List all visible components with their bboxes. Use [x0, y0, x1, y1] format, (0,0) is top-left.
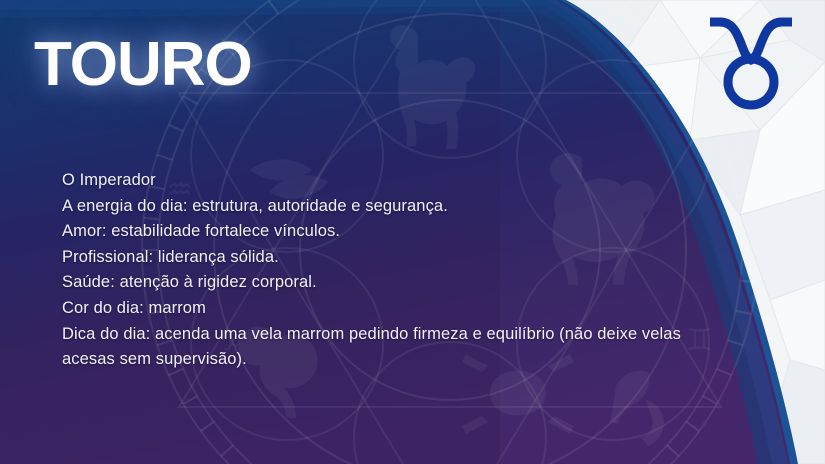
text-line-career: Profissional: liderança sólida.	[62, 245, 702, 271]
page-title: TOURO	[34, 34, 252, 96]
horoscope-text-block: O Imperador A energia do dia: estrutura,…	[62, 168, 702, 373]
text-line-health: Saúde: atenção à rigidez corporal.	[62, 270, 702, 296]
text-line-tip: Dica do dia: acenda uma vela marrom pedi…	[62, 322, 702, 373]
taurus-icon	[704, 14, 798, 110]
text-line-daily-energy: A energia do dia: estrutura, autoridade …	[62, 194, 702, 220]
horoscope-slide: ♈ ♉ ♊ ♓ ♒ ♑ TOURO O Imperador A energia …	[0, 0, 825, 464]
text-line-color: Cor do dia: marrom	[62, 296, 702, 322]
text-line-love: Amor: estabilidade fortalece vínculos.	[62, 219, 702, 245]
text-line-tarot-card: O Imperador	[62, 168, 702, 194]
